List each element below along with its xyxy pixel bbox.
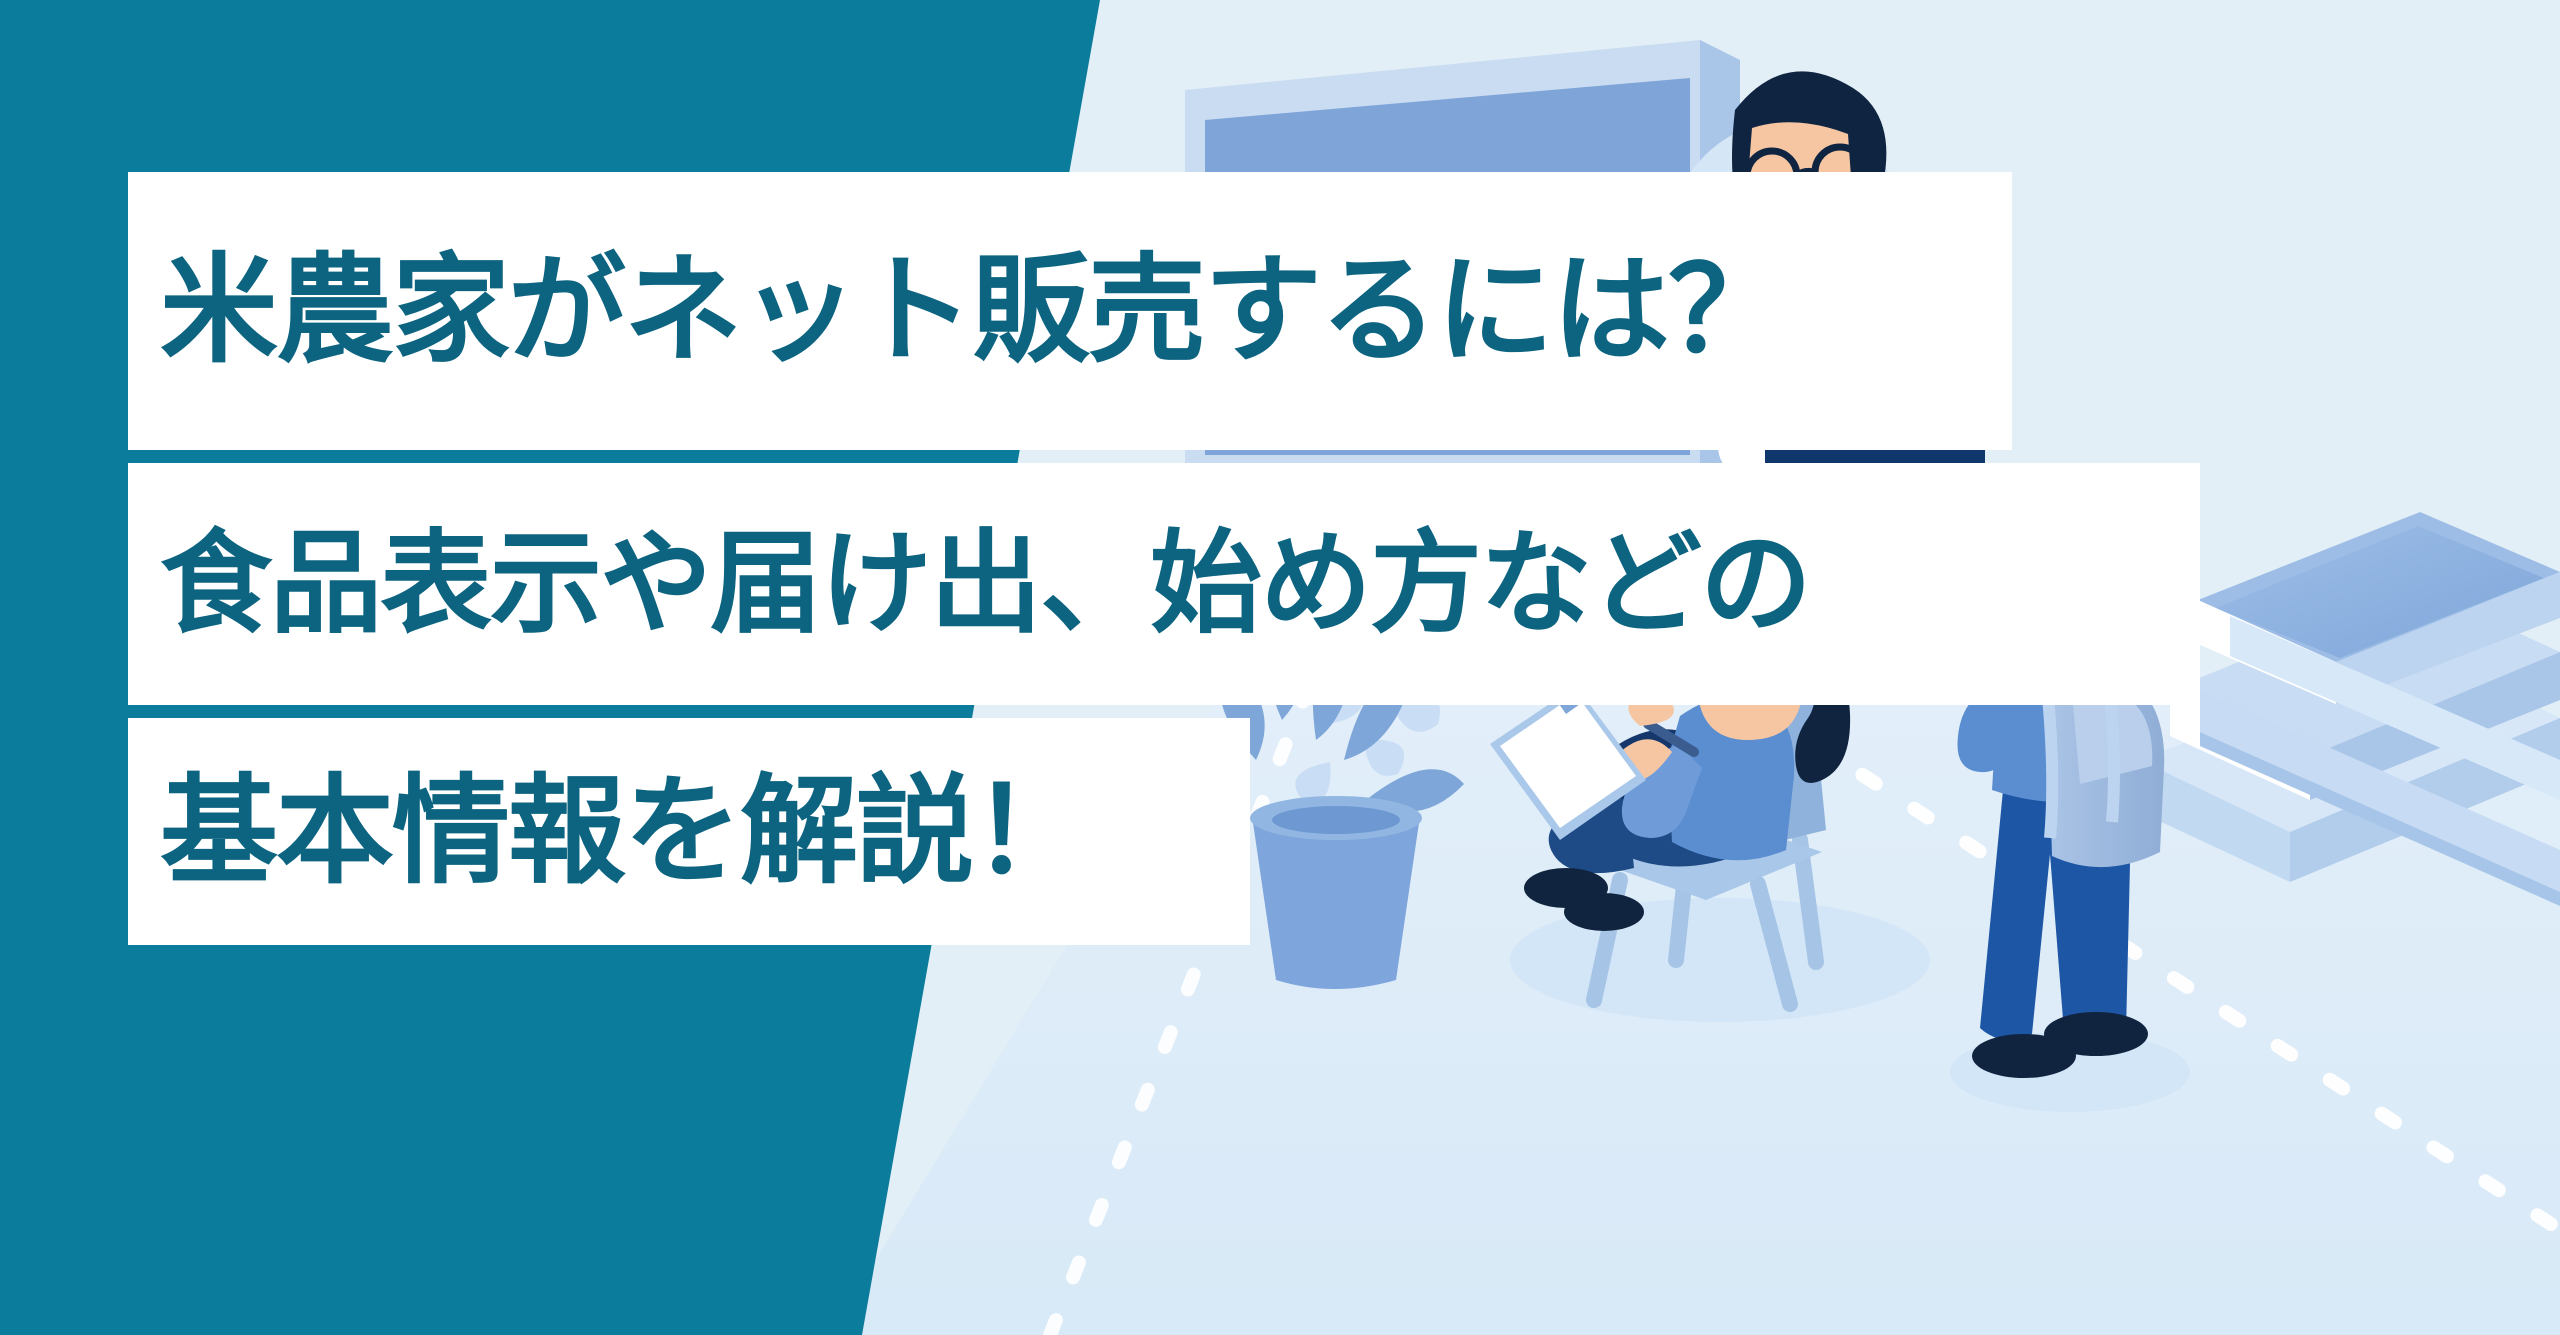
shoe — [2044, 1012, 2148, 1056]
shoe — [1564, 893, 1644, 931]
title-line-3-text: 基本情報を解説！ — [160, 773, 1088, 891]
title-line-2-box: 食品表示や届け出、始め方などの — [128, 463, 2200, 705]
title-line-3-box: 基本情報を解説！ — [128, 718, 1250, 945]
plant-pot — [1252, 816, 1420, 989]
title-line-2-text: 食品表示や届け出、始め方などの — [160, 528, 1810, 640]
banner-canvas: 米農家がネット販売するには？ 食品表示や届け出、始め方などの 基本情報を解説！ — [0, 0, 2560, 1335]
title-line-1-text: 米農家がネット販売するには？ — [160, 252, 1784, 370]
title-line-1-box: 米農家がネット販売するには？ — [128, 172, 2012, 450]
